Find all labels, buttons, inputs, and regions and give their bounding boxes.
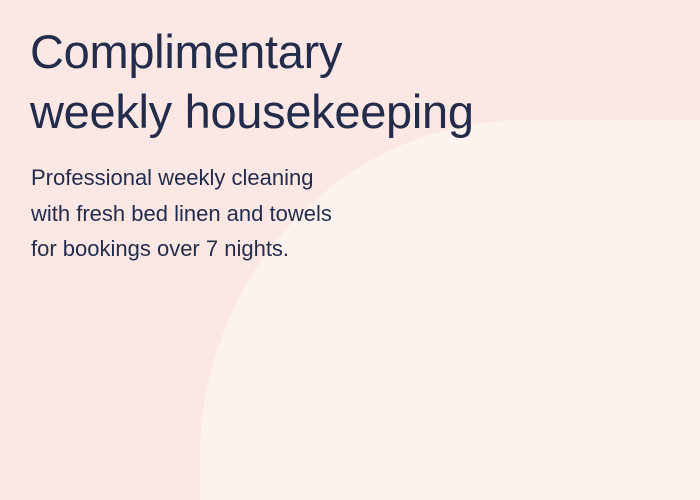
promo-card: Complimentary weekly housekeeping Profes… — [0, 0, 700, 500]
headline-line-2: weekly housekeeping — [30, 82, 630, 142]
headline-line-1: Complimentary — [30, 22, 630, 82]
subcopy: Professional weekly cleaning with fresh … — [31, 160, 501, 267]
subcopy-line-1: Professional weekly cleaning — [31, 160, 501, 196]
subcopy-line-2: with fresh bed linen and towels — [31, 196, 501, 232]
page-title: Complimentary weekly housekeeping — [30, 22, 630, 142]
subcopy-line-3: for bookings over 7 nights. — [31, 231, 501, 267]
